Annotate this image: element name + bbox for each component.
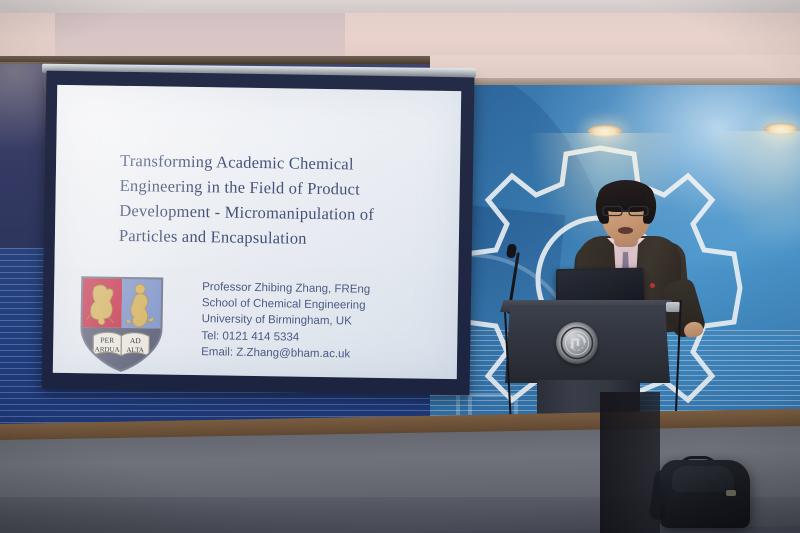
university-crest: PER ARDUA AD ALTA xyxy=(75,273,169,379)
crest-motto-ardua: ARDUA xyxy=(95,345,120,353)
contact-line-email: Email: Z.Zhang@bham.ac.uk xyxy=(201,344,441,364)
slide-contact-block: Professor Zhibing Zhang, FREng School of… xyxy=(201,279,442,364)
glasses-icon xyxy=(601,205,651,217)
ceiling xyxy=(0,0,800,14)
ceiling-downlight-right xyxy=(764,123,798,135)
crest-motto-per: PER xyxy=(100,336,114,345)
ceiling-downlight-left xyxy=(588,125,622,137)
presentation-photo-scene: Transforming Academic Chemical Engineeri… xyxy=(0,0,800,533)
podium-gear-emblem-icon xyxy=(556,322,598,364)
slide-title-line-4: Particles and Encapsulation xyxy=(119,223,439,253)
crest-motto-alta: ALTA xyxy=(126,346,144,354)
projection-screen-frame: Transforming Academic Chemical Engineeri… xyxy=(42,71,475,396)
podium-remote-device xyxy=(666,302,680,312)
foreground-dark-pillar xyxy=(600,392,660,533)
backpack-zipper-pull xyxy=(726,490,736,496)
backpack-flap xyxy=(672,466,734,492)
crest-motto-ad: AD xyxy=(130,336,142,345)
speaker-lapel-pin xyxy=(650,283,655,288)
projected-slide: Transforming Academic Chemical Engineeri… xyxy=(53,85,461,379)
speaker-mouth xyxy=(618,227,633,234)
slide-title: Transforming Academic Chemical Engineeri… xyxy=(119,148,441,253)
